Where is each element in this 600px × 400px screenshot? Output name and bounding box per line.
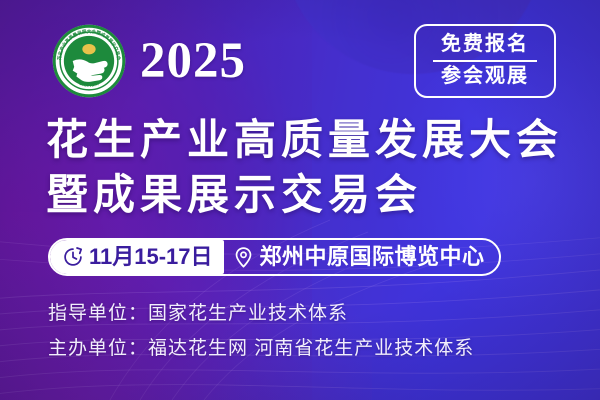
date-section: 11月15-17日 (50, 240, 224, 274)
peanut-conference-emblem-icon: 花生产业高质量发展大会暨成果展示交易会 2025 郑州 (52, 24, 126, 98)
venue-section: 郑州中原国际博览中心 (224, 240, 499, 274)
title-line-2: 暨成果展示交易会 (46, 167, 563, 222)
organizer-credits: 指导单位：国家花生产业技术体系 主办单位：福达花生网 河南省花生产业技术体系 (48, 296, 474, 366)
date-and-venue-bar: 11月15-17日 郑州中原国际博览中心 (48, 238, 501, 276)
free-registration-badge[interactable]: 免费报名 参会观展 (414, 24, 556, 98)
badge-divider (433, 60, 537, 62)
event-date-label: 11月15-17日 (89, 246, 213, 268)
poster-title: 花生产业高质量发展大会 暨成果展示交易会 (46, 112, 563, 223)
event-venue-label: 郑州中原国际博览中心 (260, 246, 485, 268)
credit-line-host-unit: 主办单位：福达花生网 河南省花生产业技术体系 (48, 331, 474, 366)
clock-icon (62, 246, 84, 268)
title-line-1: 花生产业高质量发展大会 (46, 112, 563, 167)
logo-and-year-row: 花生产业高质量发展大会暨成果展示交易会 2025 郑州 2025 (52, 24, 246, 98)
event-poster-banner: 花生产业高质量发展大会暨成果展示交易会 2025 郑州 2025 免费报名 参会… (0, 0, 600, 400)
year-label: 2025 (140, 36, 246, 87)
location-pin-icon (233, 246, 254, 269)
badge-line-free-registration: 免费报名 (441, 33, 529, 57)
credit-line-guiding-unit: 指导单位：国家花生产业技术体系 (48, 296, 474, 331)
badge-line-attend-exhibition: 参会观展 (441, 65, 529, 89)
